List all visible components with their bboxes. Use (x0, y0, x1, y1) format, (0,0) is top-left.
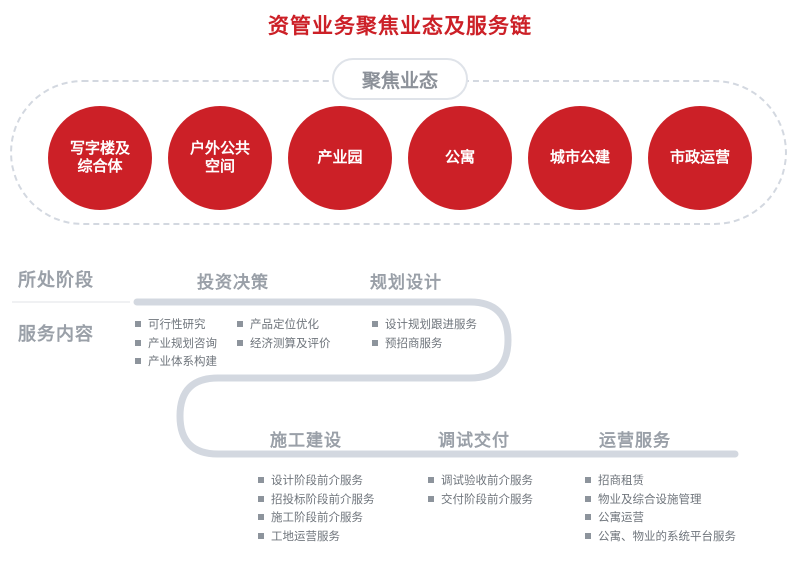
service-item-label: 产品定位优化 (250, 316, 319, 335)
service-item-label: 物业及综合设施管理 (598, 491, 702, 510)
service-item: 工地运营服务 (258, 528, 375, 547)
service-list-operate: 招商租赁物业及综合设施管理公寓运营公寓、物业的系统平台服务 (585, 472, 736, 547)
service-item-label: 调试验收前介服务 (441, 472, 533, 491)
service-item: 公寓运营 (585, 509, 736, 528)
focus-circle-label: 市政运营 (670, 149, 730, 167)
square-bullet-icon (258, 477, 264, 483)
service-item: 预招商服务 (372, 335, 477, 354)
service-item: 可行性研究 (135, 316, 217, 335)
focus-circle-label: 产业园 (317, 149, 362, 167)
service-item: 经济测算及评价 (237, 335, 331, 354)
focus-circle[interactable]: 公寓 (408, 106, 512, 210)
service-item: 调试验收前介服务 (428, 472, 533, 491)
service-item: 招投标阶段前介服务 (258, 491, 375, 510)
service-item: 招商租赁 (585, 472, 736, 491)
service-item-label: 公寓、物业的系统平台服务 (598, 528, 736, 547)
service-item: 施工阶段前介服务 (258, 509, 375, 528)
service-item-label: 设计规划跟进服务 (385, 316, 477, 335)
square-bullet-icon (258, 496, 264, 502)
square-bullet-icon (585, 533, 591, 539)
infographic-root: 资管业务聚焦业态及服务链 聚焦业态 写字楼及综合体 户外公共空间 产业园 公寓 … (0, 0, 800, 566)
service-item: 产品定位优化 (237, 316, 331, 335)
focus-circle[interactable]: 城市公建 (528, 106, 632, 210)
service-item-label: 工地运营服务 (271, 528, 340, 547)
service-item-label: 招商租赁 (598, 472, 644, 491)
service-list-build: 设计阶段前介服务招投标阶段前介服务施工阶段前介服务工地运营服务 (258, 472, 375, 547)
service-item: 设计规划跟进服务 (372, 316, 477, 335)
service-item-label: 产业规划咨询 (148, 335, 217, 354)
focus-circle[interactable]: 写字楼及综合体 (48, 106, 152, 210)
focus-circle[interactable]: 户外公共空间 (168, 106, 272, 210)
square-bullet-icon (237, 340, 243, 346)
service-item-label: 预招商服务 (385, 335, 443, 354)
focus-pill-label: 聚焦业态 (332, 58, 468, 100)
service-list-plan: 设计规划跟进服务预招商服务 (372, 316, 477, 353)
stage-header-invest: 投资决策 (197, 268, 269, 293)
square-bullet-icon (135, 321, 141, 327)
service-item-label: 设计阶段前介服务 (271, 472, 363, 491)
square-bullet-icon (258, 533, 264, 539)
square-bullet-icon (585, 477, 591, 483)
service-item: 设计阶段前介服务 (258, 472, 375, 491)
focus-pill-text: 聚焦业态 (362, 66, 438, 93)
square-bullet-icon (428, 477, 434, 483)
focus-circle-row: 写字楼及综合体 户外公共空间 产业园 公寓 城市公建 市政运营 (0, 103, 800, 213)
stage-header-operate: 运营服务 (599, 426, 671, 451)
service-item-label: 产业体系构建 (148, 353, 217, 372)
service-item-label: 交付阶段前介服务 (441, 491, 533, 510)
square-bullet-icon (237, 321, 243, 327)
service-item: 产业体系构建 (135, 353, 217, 372)
service-item: 交付阶段前介服务 (428, 491, 533, 510)
service-list-invest-col2: 产品定位优化经济测算及评价 (237, 316, 331, 353)
service-item: 物业及综合设施管理 (585, 491, 736, 510)
square-bullet-icon (372, 321, 378, 327)
service-item: 产业规划咨询 (135, 335, 217, 354)
page-title: 资管业务聚焦业态及服务链 (0, 10, 800, 40)
square-bullet-icon (372, 340, 378, 346)
square-bullet-icon (135, 340, 141, 346)
stage-header-build: 施工建设 (270, 426, 342, 451)
focus-circle-label: 城市公建 (550, 149, 610, 167)
service-item-label: 施工阶段前介服务 (271, 509, 363, 528)
service-item-label: 公寓运营 (598, 509, 644, 528)
square-bullet-icon (428, 496, 434, 502)
focus-circle-label: 户外公共空间 (190, 140, 250, 177)
service-list-commission: 调试验收前介服务交付阶段前介服务 (428, 472, 533, 509)
service-item-label: 经济测算及评价 (250, 335, 331, 354)
focus-circle[interactable]: 市政运营 (648, 106, 752, 210)
square-bullet-icon (258, 514, 264, 520)
service-list-invest-col1: 可行性研究产业规划咨询产业体系构建 (135, 316, 217, 372)
square-bullet-icon (585, 514, 591, 520)
focus-circle-label: 公寓 (445, 149, 475, 167)
stage-header-plan: 规划设计 (370, 268, 442, 293)
stage-header-commission: 调试交付 (438, 426, 510, 451)
service-item-label: 可行性研究 (148, 316, 206, 335)
service-item-label: 招投标阶段前介服务 (271, 491, 375, 510)
focus-circle-label: 写字楼及综合体 (70, 140, 130, 177)
square-bullet-icon (585, 496, 591, 502)
focus-circle[interactable]: 产业园 (288, 106, 392, 210)
service-item: 公寓、物业的系统平台服务 (585, 528, 736, 547)
square-bullet-icon (135, 358, 141, 364)
